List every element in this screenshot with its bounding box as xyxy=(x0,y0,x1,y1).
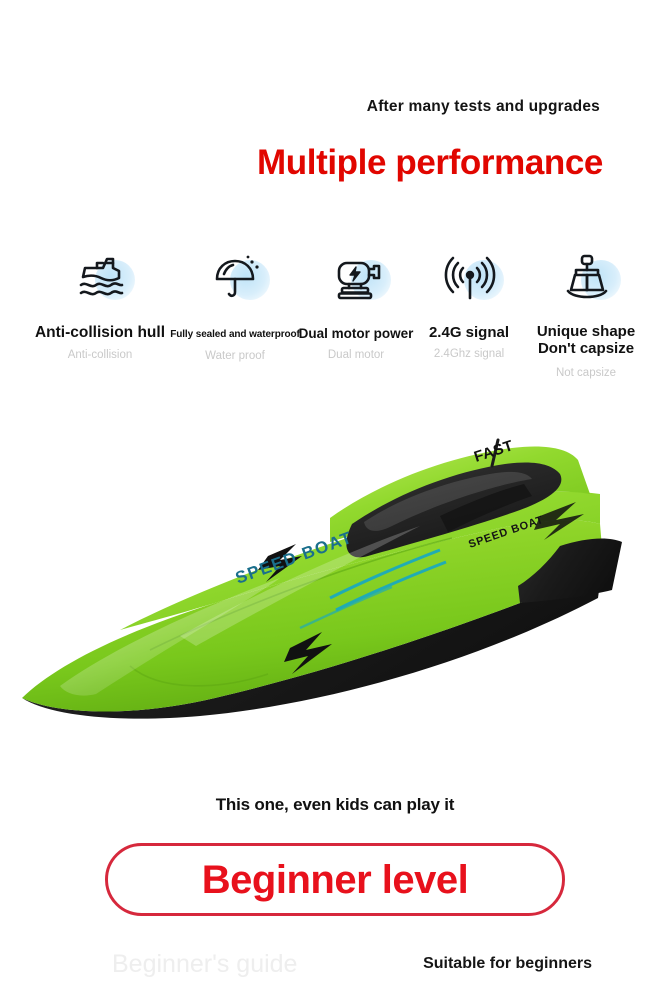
feature-title: Fully sealed and waterproof xyxy=(170,329,300,341)
feature-subtitle: 2.4Ghz signal xyxy=(415,348,523,360)
feature-text: Dual motor power Dual motor xyxy=(292,326,420,361)
feature-unique-shape: Unique shape Don't capsize Not capsize xyxy=(516,246,656,379)
feature-24g-signal: 2.4G signal 2.4Ghz signal xyxy=(415,246,523,360)
ghost-watermark-text: Beginner's guide xyxy=(112,950,297,979)
speedboat-waves-icon xyxy=(65,246,135,310)
beginner-level-button[interactable]: Beginner level xyxy=(105,843,565,916)
feature-subtitle: Not capsize xyxy=(516,367,656,379)
feature-subtitle: Anti-collision xyxy=(22,349,178,361)
signal-broadcast-icon xyxy=(434,246,504,310)
feature-text: 2.4G signal 2.4Ghz signal xyxy=(415,324,523,360)
feature-anti-collision-hull: Anti-collision hull Anti-collision xyxy=(22,246,178,361)
feature-waterproof: Fully sealed and waterproof Water proof xyxy=(170,246,300,362)
header-kicker: After many tests and upgrades xyxy=(367,98,600,116)
feature-title-line2: Don't capsize xyxy=(516,340,656,357)
feature-title: Dual motor power xyxy=(292,326,420,342)
feature-title-line1: Unique shape xyxy=(516,323,656,340)
ship-front-icon xyxy=(551,246,621,310)
feature-title: 2.4G signal xyxy=(415,324,523,341)
feature-strip: Anti-collision hull Anti-collision Fully… xyxy=(0,246,670,386)
umbrella-rain-icon xyxy=(200,246,270,310)
feature-subtitle: Water proof xyxy=(170,350,300,362)
feature-title: Unique shape Don't capsize xyxy=(516,323,656,358)
footer-tagline: This one, even kids can play it xyxy=(0,795,670,815)
feature-subtitle: Dual motor xyxy=(292,349,420,361)
feature-dual-motor: Dual motor power Dual motor xyxy=(292,246,420,361)
feature-text: Anti-collision hull Anti-collision xyxy=(22,324,178,361)
electric-motor-icon xyxy=(321,246,391,310)
feature-text: Fully sealed and waterproof Water proof xyxy=(170,329,300,362)
feature-title: Anti-collision hull xyxy=(22,324,178,342)
page-title: Multiple performance xyxy=(0,143,603,183)
beginner-level-label: Beginner level xyxy=(202,860,468,900)
feature-text: Unique shape Don't capsize Not capsize xyxy=(516,323,656,379)
product-image-rc-speed-boat: FAST SPEED BOAT SPEED BOAT xyxy=(0,398,670,768)
footer-note: Suitable for beginners xyxy=(423,955,592,973)
